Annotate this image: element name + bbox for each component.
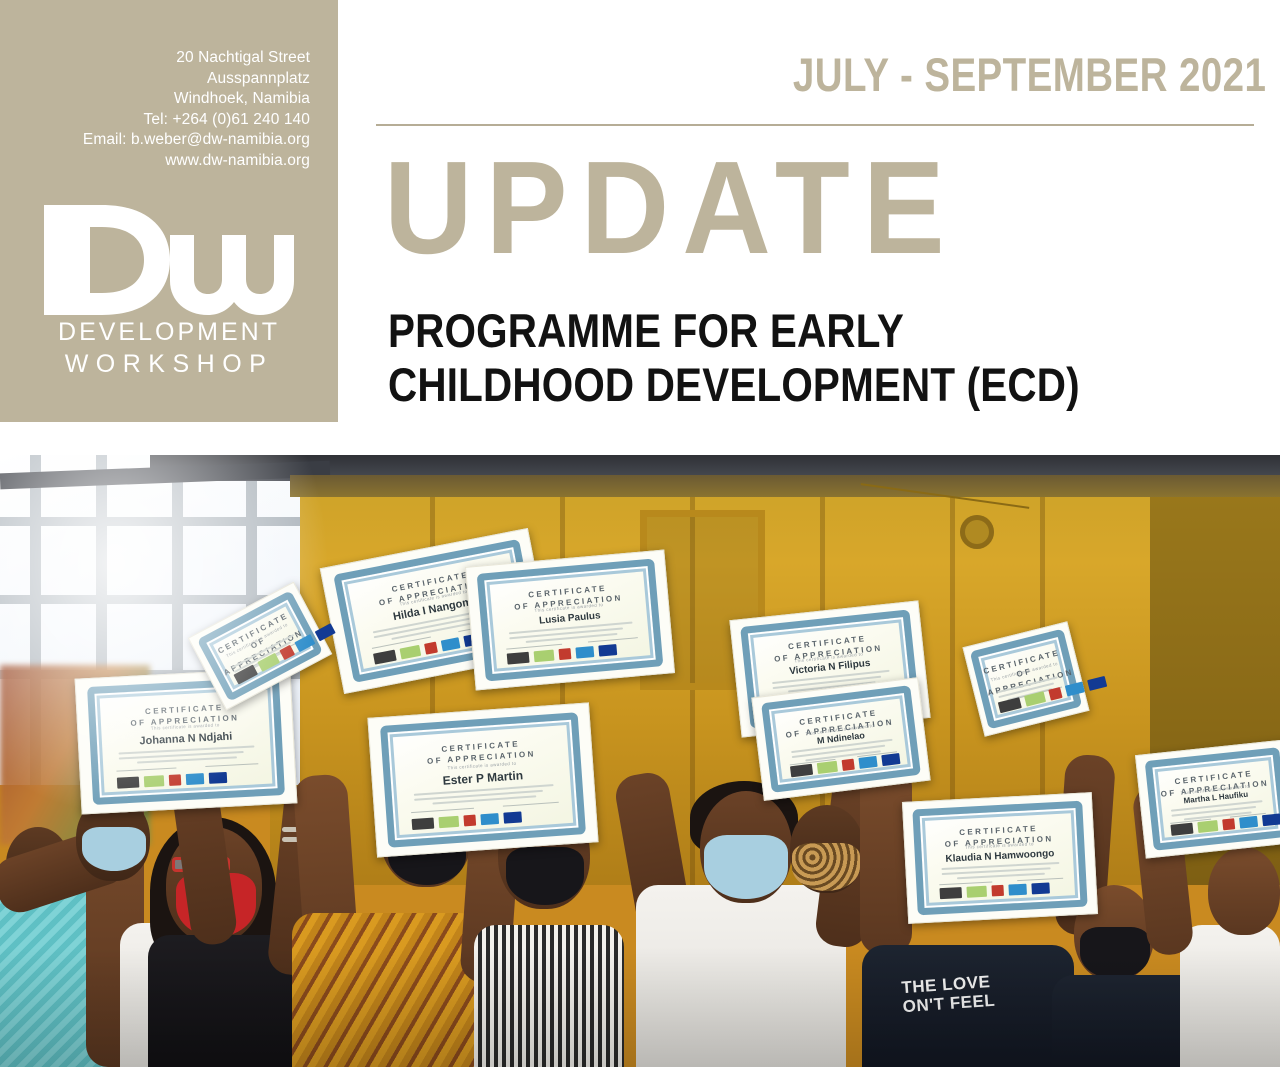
dw-icon xyxy=(116,776,139,788)
page-title: UPDATE xyxy=(384,142,958,274)
person-torso xyxy=(1180,925,1280,1067)
dw-monogram-icon xyxy=(44,205,294,315)
window-transom xyxy=(0,517,300,526)
face-mask xyxy=(704,835,788,899)
contact-email[interactable]: Email: b.weber@dw-namibia.org xyxy=(10,130,310,151)
dw-icon xyxy=(412,818,435,831)
certificate-card: CERTIFICATEOF APPRECIATIONThis certifica… xyxy=(367,702,598,857)
hero-photo: FAMILY OF HOPE SERVICES Funded by des ho… xyxy=(0,455,1280,1067)
logo-word-workshop: WORKSHOP xyxy=(0,349,338,379)
contact-phone: Tel: +264 (0)61 240 140 xyxy=(10,110,310,131)
unicef-icon xyxy=(576,646,595,659)
contact-street: 20 Nachtigal Street xyxy=(10,48,310,69)
eu-flag-icon xyxy=(208,772,227,784)
certificate-border: CERTIFICATEOF APPRECIATIONThis certifica… xyxy=(87,677,286,805)
eu-flag-icon xyxy=(881,753,900,766)
certificate-border: CERTIFICATEOF APPRECIATIONThis certifica… xyxy=(970,629,1082,729)
certificate-card: CERTIFICATEOF APPRECIATIONThis certifica… xyxy=(1135,739,1280,858)
certificate-signature-line xyxy=(503,802,558,807)
eu-flag-icon xyxy=(599,644,618,657)
person-head xyxy=(1208,847,1280,935)
certificate-card: CERTIFICATEOF APPRECIATIONThis certifica… xyxy=(902,792,1098,924)
dw-icon xyxy=(939,888,962,900)
issue-period: JULY - SEPTEMBER 2021 xyxy=(793,47,1266,102)
page-subtitle-line1: PROGRAMME FOR EARLY xyxy=(388,305,904,357)
eu-flag-icon xyxy=(504,812,523,824)
namibia-coat-of-arms-icon xyxy=(559,648,572,660)
certificate-border: CERTIFICATEOF APPRECIATIONThis certifica… xyxy=(1144,747,1280,850)
unicef-icon xyxy=(1065,682,1085,697)
contact-website[interactable]: www.dw-namibia.org xyxy=(10,151,310,172)
logo-word-development: DEVELOPMENT xyxy=(0,317,338,347)
namibia-coat-of-arms-icon xyxy=(424,641,438,654)
unicef-icon xyxy=(481,813,500,825)
certificate-border: CERTIFICATEOF APPRECIATIONThis certifica… xyxy=(761,685,920,792)
namibia-coat-of-arms-icon xyxy=(1049,687,1063,701)
certificate-signature-line xyxy=(116,768,177,772)
partner-green-icon xyxy=(966,886,987,898)
partner-green-icon xyxy=(439,816,460,828)
partner-green-icon xyxy=(1197,820,1218,833)
dw-icon xyxy=(790,764,813,778)
face-mask xyxy=(82,827,146,871)
certificate-signature-line xyxy=(411,808,473,813)
namibia-coat-of-arms-icon xyxy=(991,885,1004,897)
partner-green-icon xyxy=(817,761,838,774)
person-torso xyxy=(474,925,624,1067)
certificate-border: CERTIFICATEOF APPRECIATIONThis certifica… xyxy=(477,559,664,681)
namibia-coat-of-arms-icon xyxy=(841,758,854,770)
eu-flag-icon xyxy=(1031,883,1050,895)
certificate-card: CERTIFICATEOF APPRECIATIONThis certifica… xyxy=(465,550,675,691)
dw-icon xyxy=(373,649,397,664)
newsletter-page: 20 Nachtigal Street Ausspannplatz Windho… xyxy=(0,0,1280,1067)
namibia-coat-of-arms-icon xyxy=(1222,818,1235,830)
header-text-column: JULY - SEPTEMBER 2021 UPDATE PROGRAMME F… xyxy=(376,0,1266,440)
ceiling-strip xyxy=(290,475,1280,497)
certificate-border: CERTIFICATEOF APPRECIATIONThis certifica… xyxy=(380,713,586,848)
certificate-partner-logos xyxy=(412,812,522,831)
contact-suburb: Ausspannplatz xyxy=(10,69,310,90)
unicef-icon xyxy=(441,637,461,651)
namibia-coat-of-arms-icon xyxy=(168,774,181,786)
partner-green-icon xyxy=(534,650,555,663)
unicef-icon xyxy=(185,773,204,785)
person-torso xyxy=(292,913,482,1067)
certificate-partner-logos xyxy=(116,772,226,789)
header: 20 Nachtigal Street Ausspannplatz Windho… xyxy=(0,0,1280,455)
certificate-signature-line xyxy=(205,763,259,767)
dw-icon xyxy=(507,652,530,665)
face-mask xyxy=(1080,927,1150,979)
contact-city: Windhoek, Namibia xyxy=(10,89,310,110)
certificate-border: CERTIFICATEOF APPRECIATIONThis certifica… xyxy=(913,801,1088,915)
page-subtitle-line2: CHILDHOOD DEVELOPMENT (ECD) xyxy=(388,359,1080,411)
partner-green-icon xyxy=(399,645,421,660)
unicef-icon xyxy=(1008,884,1027,896)
unicef-icon xyxy=(858,756,877,769)
namibia-coat-of-arms-icon xyxy=(464,815,477,827)
certificate-partner-logos xyxy=(939,883,1049,900)
certificate-card: CERTIFICATEOF APPRECIATIONThis certifica… xyxy=(751,677,930,801)
dw-icon xyxy=(1170,822,1193,835)
wall-vent xyxy=(960,515,994,549)
eu-flag-icon xyxy=(1262,813,1280,826)
partner-green-icon xyxy=(143,775,164,787)
unicef-icon xyxy=(1239,816,1258,829)
certificate-body-text xyxy=(941,862,1060,883)
header-divider xyxy=(376,124,1254,126)
face-mask xyxy=(506,847,584,905)
face-mask xyxy=(792,843,860,891)
organization-logo: DEVELOPMENT WORKSHOP xyxy=(0,205,338,405)
contact-details: 20 Nachtigal Street Ausspannplatz Windho… xyxy=(10,48,310,171)
person-torso xyxy=(636,885,846,1067)
brand-block: 20 Nachtigal Street Ausspannplatz Windho… xyxy=(0,0,338,422)
